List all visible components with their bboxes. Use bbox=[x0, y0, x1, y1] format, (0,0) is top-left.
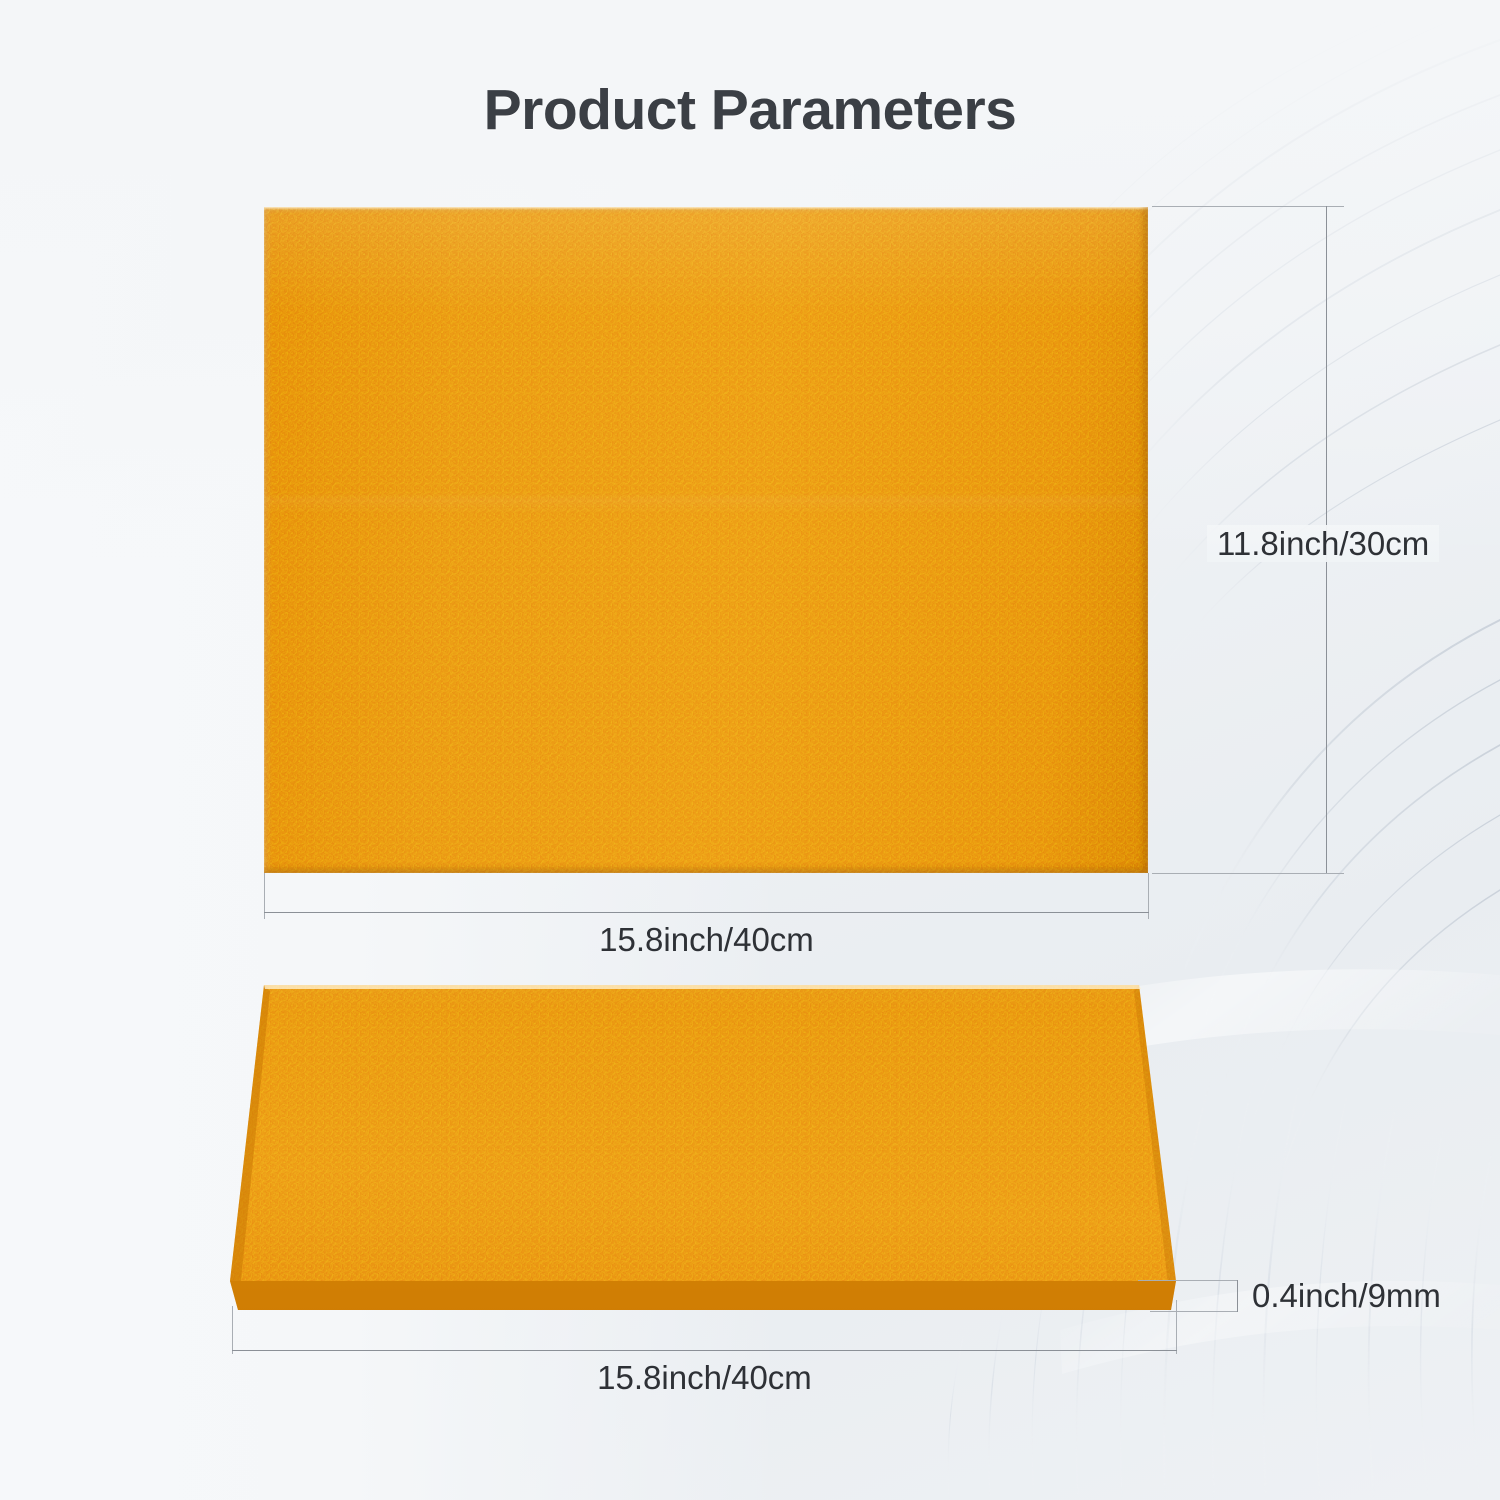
thickness-dimension-line bbox=[1237, 1280, 1238, 1312]
thickness-dimension-label: 0.4inch/9mm bbox=[1252, 1277, 1441, 1315]
panel-bottom-shadow bbox=[264, 866, 1148, 873]
panel-front-view bbox=[264, 207, 1148, 873]
perspective-width-dimension-line bbox=[232, 1350, 1177, 1351]
height-dimension-value: 11.8inch/30cm bbox=[1207, 525, 1439, 562]
height-extension-line-bottom bbox=[1152, 873, 1344, 874]
perspective-width-dimension-label: 15.8inch/40cm bbox=[232, 1359, 1177, 1397]
width-extension-line-left bbox=[264, 873, 265, 919]
width-dimension-label: 15.8inch/40cm bbox=[264, 921, 1149, 959]
felt-texture-overlay bbox=[264, 207, 1148, 873]
width-dimension-line bbox=[264, 912, 1149, 913]
panel-perspective-view bbox=[210, 985, 1185, 1315]
height-dimension-label: 11.8inch/30cm bbox=[1207, 525, 1439, 563]
panel-top-highlight bbox=[264, 207, 1148, 210]
product-parameters-infographic: Product Parameters 11.8inch/30cm 15.8inc… bbox=[0, 0, 1500, 1500]
width-extension-line-right bbox=[1148, 873, 1149, 919]
height-extension-line-top bbox=[1152, 206, 1344, 207]
page-title: Product Parameters bbox=[0, 77, 1500, 143]
panel-top-face bbox=[210, 985, 1185, 1315]
perspective-width-dimension-value: 15.8inch/40cm bbox=[597, 1359, 812, 1396]
panel-right-shadow bbox=[1139, 207, 1148, 873]
felt-texture-overlay-perspective bbox=[210, 985, 1185, 1315]
thickness-dimension-value: 0.4inch/9mm bbox=[1252, 1277, 1441, 1314]
width-dimension-value: 15.8inch/40cm bbox=[599, 921, 814, 958]
